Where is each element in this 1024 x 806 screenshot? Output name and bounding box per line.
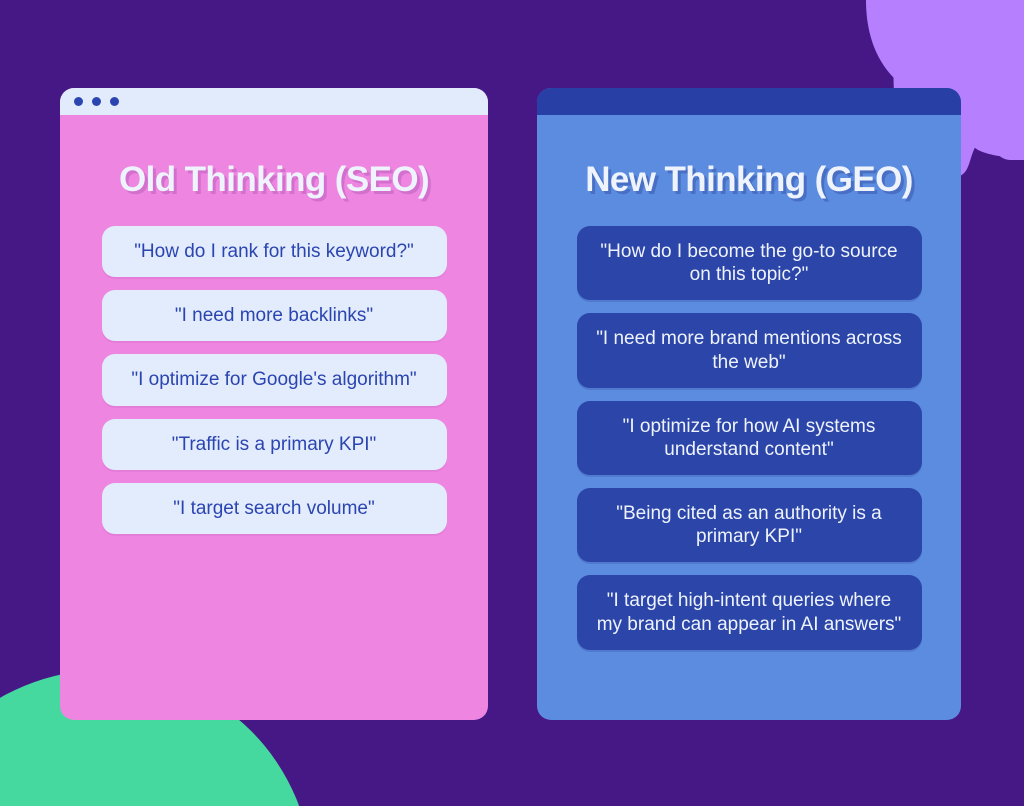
quote-card: "Being cited as an authority is a primar… bbox=[577, 488, 922, 562]
comparison-stage: Old Thinking (SEO) "How do I rank for th… bbox=[0, 0, 1024, 806]
quote-card: "I need more brand mentions across the w… bbox=[577, 313, 922, 387]
quote-card: "I optimize for how AI systems understan… bbox=[577, 401, 922, 475]
window-dot-icon[interactable] bbox=[92, 97, 101, 106]
panel-body-old: Old Thinking (SEO) "How do I rank for th… bbox=[60, 115, 488, 720]
window-titlebar-old bbox=[60, 88, 488, 115]
quote-card: "I optimize for Google's algorithm" bbox=[102, 354, 447, 405]
quote-card: "I need more backlinks" bbox=[102, 290, 447, 341]
window-titlebar-new bbox=[537, 88, 961, 115]
quote-card: "Traffic is a primary KPI" bbox=[102, 419, 447, 470]
card-list-old: "How do I rank for this keyword?" "I nee… bbox=[80, 226, 468, 534]
panel-body-new: New Thinking (GEO) "How do I become the … bbox=[537, 115, 961, 720]
quote-card: "How do I become the go-to source on thi… bbox=[577, 226, 922, 300]
card-list-new: "How do I become the go-to source on thi… bbox=[557, 226, 941, 650]
window-dot-icon[interactable] bbox=[74, 97, 83, 106]
quote-card: "How do I rank for this keyword?" bbox=[102, 226, 447, 277]
quote-card: "I target search volume" bbox=[102, 483, 447, 534]
panel-new-thinking: New Thinking (GEO) "How do I become the … bbox=[537, 88, 961, 720]
panel-title-new: New Thinking (GEO) bbox=[585, 162, 913, 197]
panel-title-old: Old Thinking (SEO) bbox=[119, 162, 429, 197]
quote-card: "I target high-intent queries where my b… bbox=[577, 575, 922, 649]
window-dot-icon[interactable] bbox=[110, 97, 119, 106]
panel-old-thinking: Old Thinking (SEO) "How do I rank for th… bbox=[60, 88, 488, 720]
